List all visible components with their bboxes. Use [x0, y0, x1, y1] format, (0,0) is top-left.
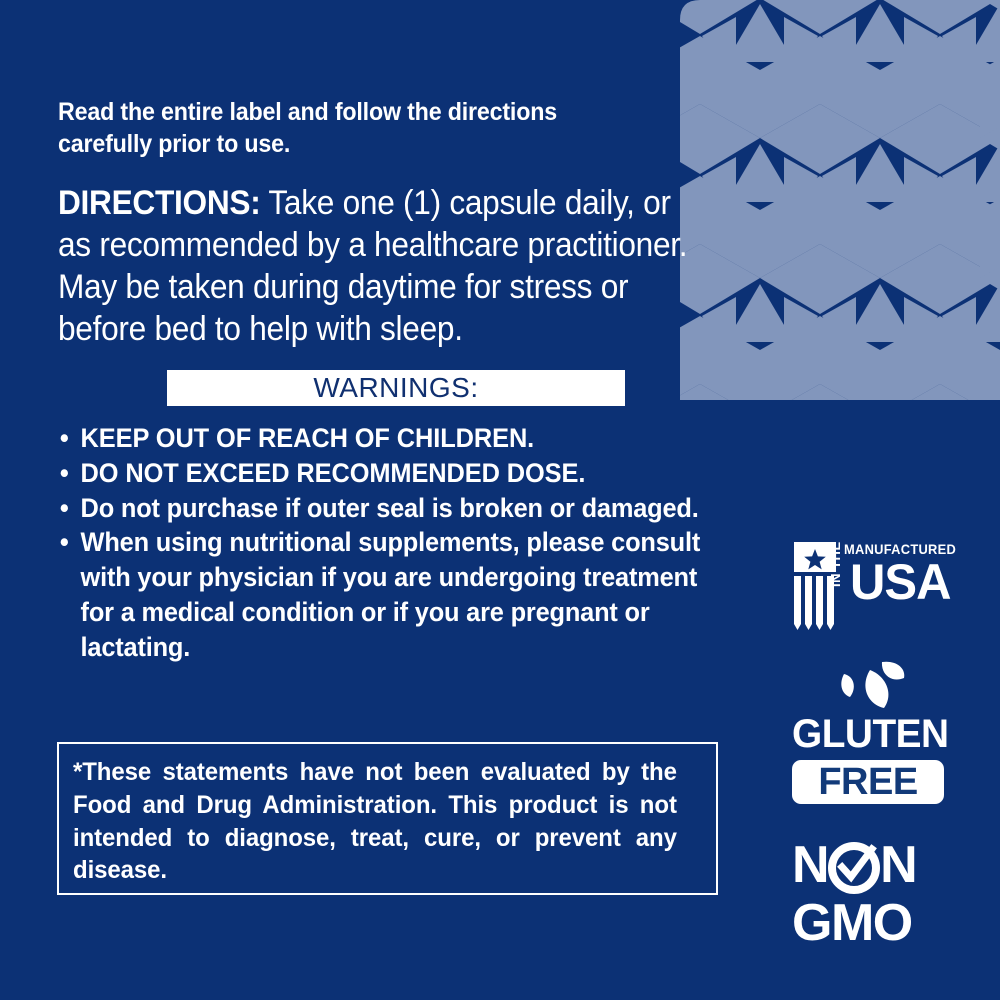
- non-last-letter: N: [880, 836, 916, 894]
- usa-text-group: MANUFACTURED IN THE USA: [844, 542, 954, 617]
- non-gmo-badge: N N GMO: [792, 838, 962, 950]
- free-label: FREE: [792, 760, 944, 804]
- wheat-leaves-icon: [814, 658, 934, 714]
- non-first-letter: N: [792, 836, 828, 894]
- warning-text: KEEP OUT OF REACH OF CHILDREN.: [81, 423, 535, 453]
- bullet-glyph: •: [60, 525, 69, 560]
- warnings-list: •KEEP OUT OF REACH OF CHILDREN. •DO NOT …: [58, 421, 748, 665]
- fda-disclaimer-box: *These statements have not been evaluate…: [57, 742, 718, 895]
- bullet-glyph: •: [60, 491, 69, 526]
- non-row: N N: [792, 838, 962, 892]
- warning-item: •When using nutritional supplements, ple…: [58, 525, 707, 664]
- certification-badge-column: MANUFACTURED IN THE USA: [792, 538, 972, 950]
- check-circle-icon: [828, 842, 880, 894]
- label-text-column: Read the entire label and follow the dir…: [58, 96, 738, 351]
- warning-item: •DO NOT EXCEED RECOMMENDED DOSE.: [58, 456, 707, 491]
- gluten-label: GLUTEN: [792, 714, 957, 754]
- fda-disclaimer-text: *These statements have not been evaluate…: [73, 756, 677, 887]
- manufactured-in-usa-badge: MANUFACTURED IN THE USA: [792, 538, 952, 630]
- warning-item: •KEEP OUT OF REACH OF CHILDREN.: [58, 421, 707, 456]
- bullet-glyph: •: [60, 421, 69, 456]
- warning-item: •Do not purchase if outer seal is broken…: [58, 491, 707, 526]
- intro-paragraph: Read the entire label and follow the dir…: [58, 96, 607, 160]
- warning-text: When using nutritional supplements, plea…: [81, 527, 701, 661]
- bullet-glyph: •: [60, 456, 69, 491]
- warning-text: Do not purchase if outer seal is broken …: [81, 493, 699, 523]
- gmo-row: GMO: [792, 896, 962, 950]
- gluten-leaves-wrap: [814, 658, 934, 714]
- gluten-free-badge: GLUTEN FREE: [792, 658, 962, 804]
- warning-text: DO NOT EXCEED RECOMMENDED DOSE.: [81, 458, 586, 488]
- directions-label: DIRECTIONS:: [58, 184, 260, 222]
- supplement-label-panel: Read the entire label and follow the dir…: [0, 0, 1000, 1000]
- warnings-header: WARNINGS:: [167, 370, 625, 406]
- usa-lower-group: IN THE USA: [844, 559, 954, 617]
- check-circle-svg: [828, 842, 880, 894]
- usa-in-the-label: IN THE: [828, 541, 843, 587]
- directions-paragraph: DIRECTIONS: Take one (1) capsule daily, …: [58, 182, 709, 351]
- usa-word-label: USA: [850, 557, 951, 607]
